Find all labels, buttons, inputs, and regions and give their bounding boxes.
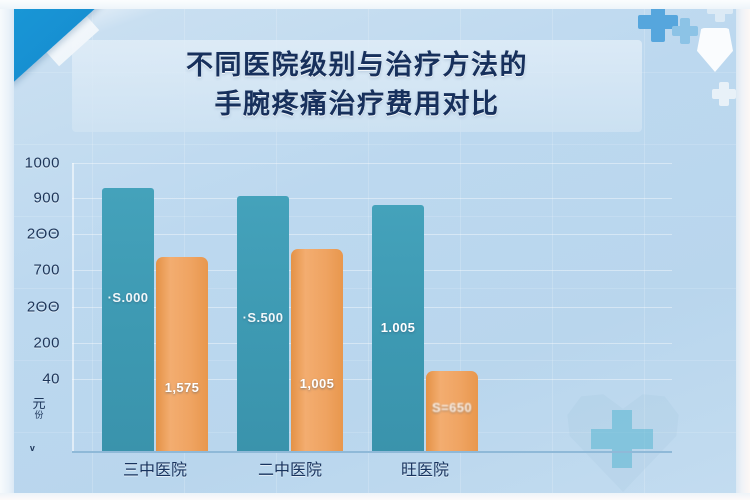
medical-cross-icon-tiny [712,82,736,106]
page-frame-left [0,0,14,500]
chart-slide: 不同医院级别与治疗方法的 手腕疼痛治疗费用对比 10009002ΘΘ7002ΘΘ… [0,0,750,500]
y-axis-tick-label: 1000 [25,155,60,172]
y-axis-tick-label: 2ΘΘ [27,298,60,315]
bar-teal-series-0[interactable]: ·S.000 [102,188,154,453]
y-axis-tick-label: 700 [33,262,60,279]
page-frame-right [736,0,750,500]
y-axis-title: 元 份 [26,398,52,421]
y-axis-tick-label: 900 [33,189,60,206]
plot-area: ·S.0001,575·S.5001,0051.005S=650 [72,163,672,453]
bar-value-label: 1,005 [291,376,343,391]
x-axis-categories: 三中医院二中医院旺医院 [72,456,672,486]
y-axis-tick-label: 2ΘΘ [27,226,60,243]
y-axis-title-main: 元 [26,398,52,411]
bar-value-label: S=650 [426,400,478,415]
medical-cross-icon-medium [672,18,698,44]
bar-teal-series-2[interactable]: 1.005 [372,205,424,453]
x-axis-category-label: 旺医院 [372,456,478,480]
y-axis-glyph: ᵥ [30,438,35,453]
bar-orange-series-0[interactable]: 1,575 [156,257,208,453]
bar-value-label: 1.005 [372,320,424,335]
bar-group: ·S.0001,575 [102,163,252,453]
bar-teal-series-1[interactable]: ·S.500 [237,196,289,453]
bar-value-label: ·S.500 [237,310,289,325]
x-axis-category-label: 二中医院 [237,456,343,480]
x-axis-category-label: 三中医院 [102,456,208,480]
bar-orange-series-2[interactable]: S=650 [426,371,478,453]
y-axis-tick-label: 200 [33,334,60,351]
chart-title-line-1: 不同医院级别与治疗方法的 [186,47,528,86]
bar-group: 1.005S=650 [372,163,522,453]
chart-title-line-2: 手腕疼痛治疗费用对比 [215,86,500,125]
bar-group: ·S.5001,005 [237,163,387,453]
bar-groups: ·S.0001,575·S.5001,0051.005S=650 [72,163,672,453]
y-axis-title-sub: 份 [26,412,52,421]
x-axis-line [72,451,672,453]
bar-orange-series-1[interactable]: 1,005 [291,249,343,453]
bar-value-label: 1,575 [156,380,208,395]
page-frame-top [0,0,750,9]
page-frame-bottom [0,493,750,500]
chart-title-banner: 不同医院级别与治疗方法的 手腕疼痛治疗费用对比 [72,40,642,132]
bar-value-label: ·S.000 [102,290,154,305]
y-axis-tick-label: 40 [42,371,60,388]
